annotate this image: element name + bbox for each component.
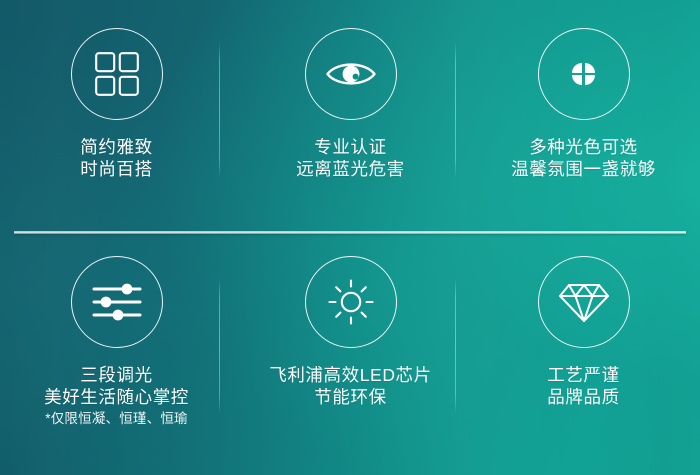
feature-line2-2: 温馨氛围一盏就够 — [467, 158, 700, 180]
feature-item-3: 三段调光 美好生活随心掌控 *仅限恒凝、恒瑾、恒瑜 — [0, 256, 233, 428]
feature-line1-2: 多种光色可选 — [467, 136, 700, 158]
feature-item-4: 飞利浦高效LED芯片 节能环保 — [234, 256, 467, 408]
feature-line1-0: 简约雅致 — [0, 136, 233, 158]
feature-line2-1: 远离蓝光危害 — [234, 158, 467, 180]
feature-labels-3: 三段调光 美好生活随心掌控 *仅限恒凝、恒瑾、恒瑜 — [0, 364, 233, 428]
feature-labels-0: 简约雅致 时尚百搭 — [0, 136, 233, 180]
feature-labels-4: 飞利浦高效LED芯片 节能环保 — [234, 364, 467, 408]
eye-icon — [305, 28, 397, 120]
feature-item-5: 工艺严谨 品牌品质 — [467, 256, 700, 408]
feature-line1-3: 三段调光 — [0, 364, 233, 386]
feature-line2-0: 时尚百搭 — [0, 158, 233, 180]
grid-four-squares-icon — [71, 28, 163, 120]
feature-labels-5: 工艺严谨 品牌品质 — [467, 364, 700, 408]
feature-item-0: 简约雅致 时尚百搭 — [0, 28, 233, 180]
feature-item-2: 多种光色可选 温馨氛围一盏就够 — [467, 28, 700, 180]
diamond-gem-icon — [538, 256, 630, 348]
feature-banner: 简约雅致 时尚百搭 专业认证 远离蓝光危害 — [0, 0, 700, 475]
feature-item-1: 专业认证 远离蓝光危害 — [234, 28, 467, 180]
feature-line2-5: 品牌品质 — [467, 386, 700, 408]
four-petal-flower-icon — [538, 28, 630, 120]
feature-line1-1: 专业认证 — [234, 136, 467, 158]
feature-line1-4: 飞利浦高效LED芯片 — [234, 364, 467, 386]
feature-line2-3: 美好生活随心掌控 — [0, 386, 233, 408]
feature-grid: 简约雅致 时尚百搭 专业认证 远离蓝光危害 — [0, 0, 700, 475]
feature-note-3: *仅限恒凝、恒瑾、恒瑜 — [0, 409, 233, 428]
feature-line1-5: 工艺严谨 — [467, 364, 700, 386]
sliders-icon — [71, 256, 163, 348]
feature-line2-4: 节能环保 — [234, 386, 467, 408]
feature-labels-2: 多种光色可选 温馨氛围一盏就够 — [467, 136, 700, 180]
sun-brightness-icon — [305, 256, 397, 348]
feature-labels-1: 专业认证 远离蓝光危害 — [234, 136, 467, 180]
